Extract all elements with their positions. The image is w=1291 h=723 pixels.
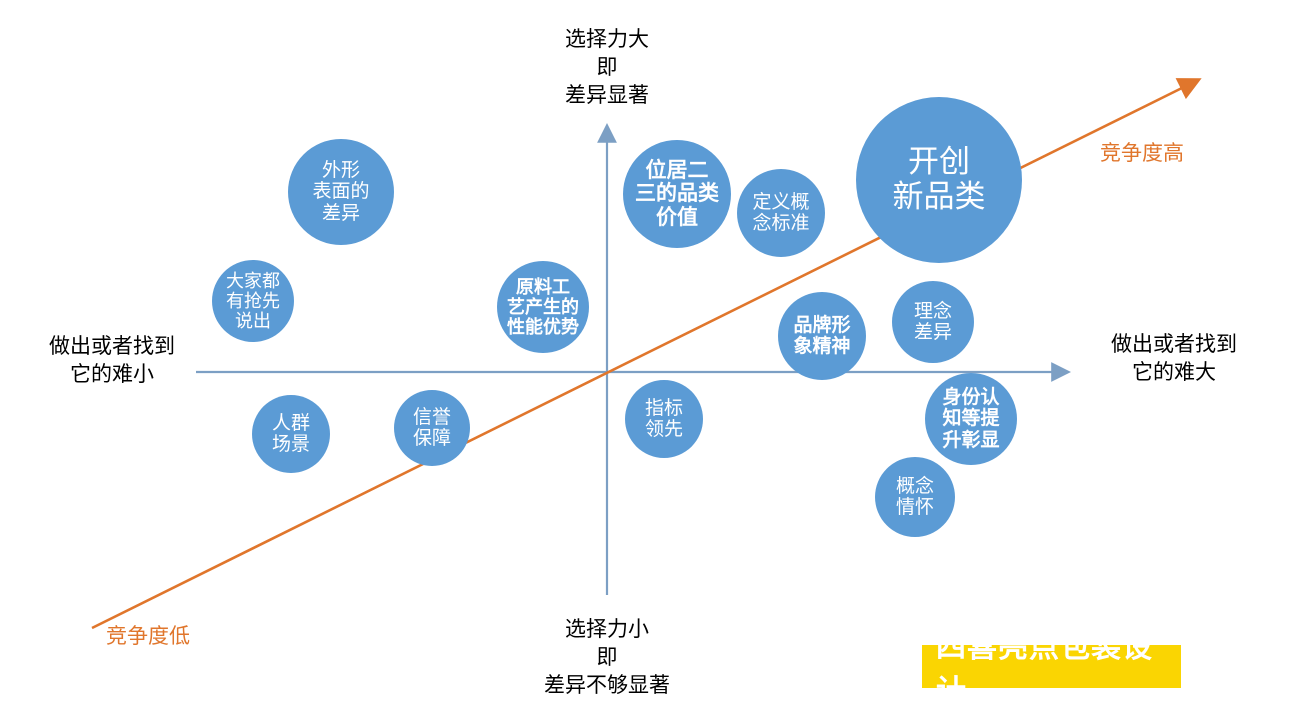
bubble-xin-yu[interactable]: 信誉 保障 (394, 390, 470, 466)
axis-label-top: 选择力大 即 差异显著 (487, 26, 727, 110)
bubble-gai-nian[interactable]: 概念 情怀 (875, 457, 955, 537)
bubble-kai-chuang[interactable]: 开创 新品类 (856, 97, 1022, 263)
bubble-label: 品牌形 象精神 (778, 315, 866, 358)
bubble-label: 人群 场景 (252, 413, 330, 456)
axis-label-right: 做出或者找到 它的难大 (1084, 331, 1264, 387)
competition-low-label: 竞争度低 (106, 620, 190, 650)
bubble-pin-pai[interactable]: 品牌形 象精神 (778, 292, 866, 380)
brand-badge: 四喜亮点包装设计 (922, 645, 1181, 688)
bubble-zhi-biao[interactable]: 指标 领先 (625, 380, 703, 458)
bubble-wei-ju[interactable]: 位居二 三的品类 价值 (623, 140, 731, 248)
bubble-label: 大家都 有抢先 说出 (212, 271, 294, 331)
bubble-label: 位居二 三的品类 价值 (623, 159, 731, 230)
bubble-label: 身份认 知等提 升彰显 (925, 387, 1017, 451)
bubble-label: 理念 差异 (892, 301, 974, 344)
bubble-li-nian[interactable]: 理念 差异 (892, 281, 974, 363)
bubble-label: 外形 表面的 差异 (288, 160, 394, 224)
bubble-da-jia-dou[interactable]: 大家都 有抢先 说出 (212, 260, 294, 342)
axis-label-bottom: 选择力小 即 差异不够显著 (487, 616, 727, 700)
bubble-label: 概念 情怀 (875, 476, 955, 519)
bubble-label: 原料工 艺产生的 性能优势 (497, 277, 589, 337)
diagram-canvas: 选择力大 即 差异显著 选择力小 即 差异不够显著 做出或者找到 它的难小 做出… (0, 0, 1291, 723)
bubble-label: 开创 新品类 (856, 145, 1022, 214)
bubble-yuan-liao[interactable]: 原料工 艺产生的 性能优势 (497, 261, 589, 353)
bubble-label: 定义概 念标准 (737, 192, 825, 235)
bubble-wai-xing[interactable]: 外形 表面的 差异 (288, 139, 394, 245)
bubble-ding-yi[interactable]: 定义概 念标准 (737, 169, 825, 257)
bubble-label: 指标 领先 (625, 398, 703, 441)
competition-high-label: 竞争度高 (1100, 137, 1184, 167)
bubble-ren-qun[interactable]: 人群 场景 (252, 395, 330, 473)
axis-label-left: 做出或者找到 它的难小 (22, 333, 202, 389)
bubble-label: 信誉 保障 (394, 407, 470, 450)
bubble-shen-fen[interactable]: 身份认 知等提 升彰显 (925, 373, 1017, 465)
